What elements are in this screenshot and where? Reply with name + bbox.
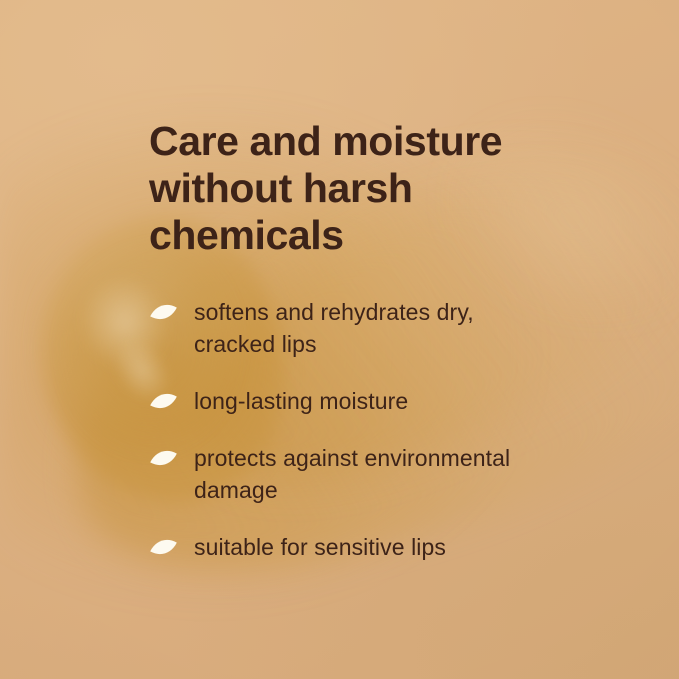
content-block: Care and moisture without harsh chemical… xyxy=(149,118,639,563)
list-item: protects against environmental damage xyxy=(149,442,639,506)
list-item: softens and rehydrates dry, cracked lips xyxy=(149,296,639,360)
page-title: Care and moisture without harsh chemical… xyxy=(149,118,549,259)
list-item: long-lasting moisture xyxy=(149,385,639,417)
leaf-icon xyxy=(149,392,178,410)
leaf-icon xyxy=(149,303,178,321)
product-benefits-poster: Care and moisture without harsh chemical… xyxy=(0,0,679,679)
list-item-label: suitable for sensitive lips xyxy=(194,531,446,563)
list-item-label: softens and rehydrates dry, cracked lips xyxy=(194,296,524,360)
list-item-label: long-lasting moisture xyxy=(194,385,408,417)
list-item-label: protects against environmental damage xyxy=(194,442,524,506)
benefits-list: softens and rehydrates dry, cracked lips… xyxy=(149,296,639,563)
leaf-icon xyxy=(149,538,178,556)
list-item: suitable for sensitive lips xyxy=(149,531,639,563)
leaf-icon xyxy=(149,449,178,467)
